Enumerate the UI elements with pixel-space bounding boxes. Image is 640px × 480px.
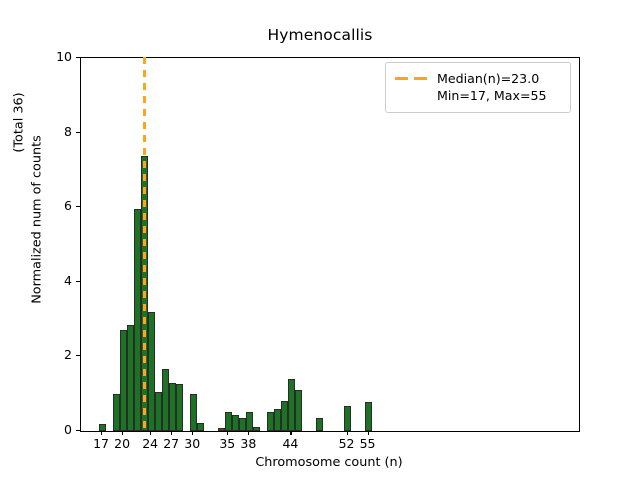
x-tick-mark <box>347 431 348 435</box>
x-tick-label: 30 <box>172 436 212 451</box>
legend: Median(n)=23.0 Min=17, Max=55 <box>385 62 571 113</box>
x-tick-mark <box>192 431 193 435</box>
bar <box>120 330 127 431</box>
bar <box>134 209 141 431</box>
bar <box>113 394 120 431</box>
x-tick-label: 44 <box>270 436 310 451</box>
y-tick-label: 2 <box>40 347 72 362</box>
bar <box>344 406 351 431</box>
bar <box>232 415 239 431</box>
x-tick-mark <box>150 431 151 435</box>
dashed-line-icon <box>394 70 430 87</box>
x-tick-label: 55 <box>348 436 388 451</box>
y-axis-label-secondary: (Total 36) <box>12 0 27 273</box>
bar <box>365 402 372 431</box>
y-tick-mark <box>76 430 80 431</box>
x-tick-mark <box>171 431 172 435</box>
legend-label-minmax: Min=17, Max=55 <box>437 88 547 103</box>
bar <box>281 401 288 431</box>
page-title: Hymenocallis <box>0 26 640 44</box>
x-tick-mark <box>122 431 123 435</box>
bar <box>246 412 253 431</box>
x-tick-mark <box>248 431 249 435</box>
legend-item-minmax: Min=17, Max=55 <box>394 87 562 104</box>
plot-area <box>80 57 580 432</box>
bar <box>176 384 183 431</box>
y-tick-mark <box>76 57 80 58</box>
bar <box>162 369 169 431</box>
bar <box>253 427 260 431</box>
legend-item-median: Median(n)=23.0 <box>394 70 562 87</box>
y-tick-label: 4 <box>40 273 72 288</box>
y-tick-label: 6 <box>40 198 72 213</box>
bar <box>288 379 295 431</box>
median-line <box>143 57 146 431</box>
bar <box>274 409 281 431</box>
bar <box>148 312 155 431</box>
bar <box>225 412 232 431</box>
bar <box>267 412 274 431</box>
y-tick-mark <box>76 355 80 356</box>
y-tick-mark <box>76 132 80 133</box>
x-tick-mark <box>290 431 291 435</box>
y-tick-label: 10 <box>40 49 72 64</box>
bar <box>316 418 323 431</box>
y-axis-label: Normalized num of counts <box>30 20 45 420</box>
x-tick-label: 38 <box>228 436 268 451</box>
bar <box>127 325 134 431</box>
bar <box>197 423 204 431</box>
bars-layer <box>81 58 579 431</box>
x-axis-label: Chromosome count (n) <box>80 455 578 470</box>
chart-figure: Hymenocallis 172024273035384452550246810… <box>0 0 640 480</box>
bar <box>99 424 106 431</box>
y-tick-label: 8 <box>40 124 72 139</box>
bar <box>190 394 197 431</box>
bar <box>169 383 176 431</box>
bar <box>239 418 246 431</box>
bar <box>295 390 302 431</box>
x-tick-mark <box>368 431 369 435</box>
bar <box>155 392 162 431</box>
y-tick-mark <box>76 281 80 282</box>
bar <box>218 428 225 431</box>
y-tick-mark <box>76 206 80 207</box>
x-tick-mark <box>227 431 228 435</box>
x-tick-mark <box>101 431 102 435</box>
y-tick-label: 0 <box>40 422 72 437</box>
legend-label-median: Median(n)=23.0 <box>437 71 539 86</box>
